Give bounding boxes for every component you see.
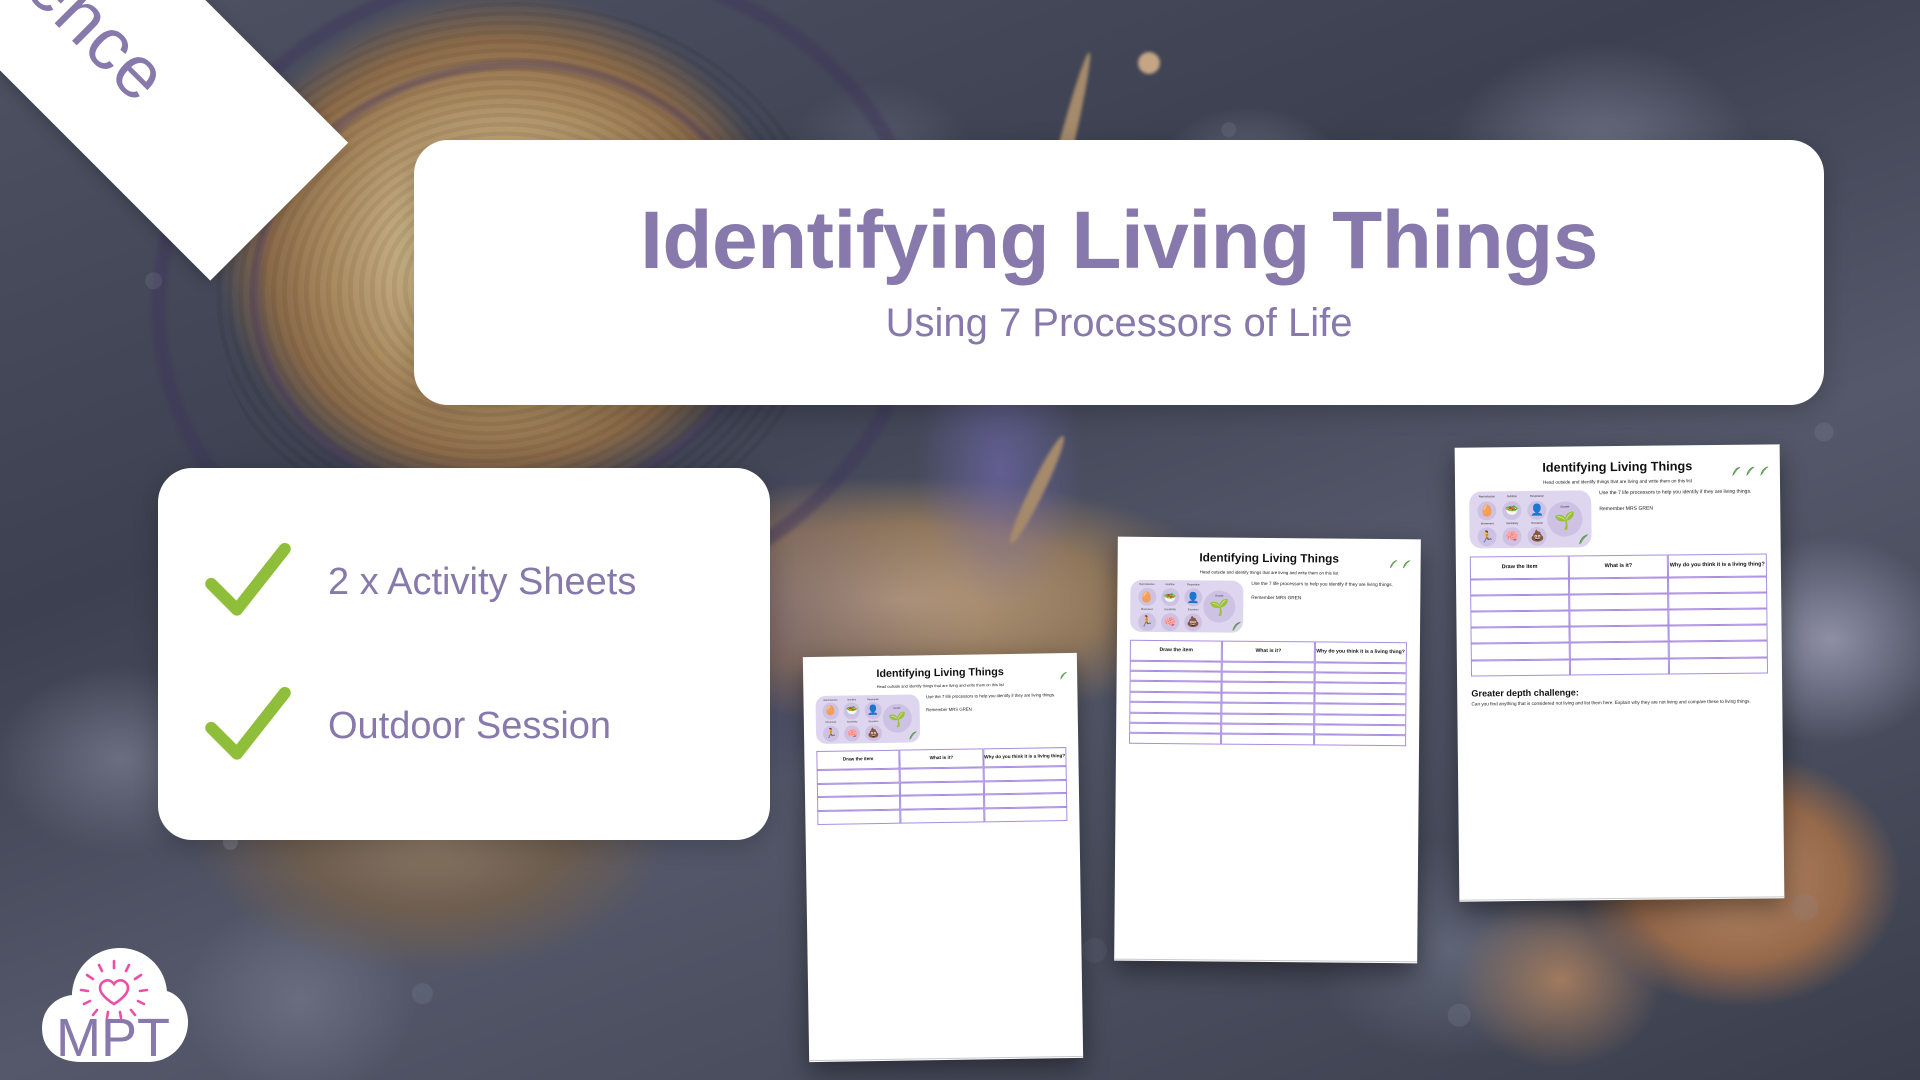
leaf-icon xyxy=(908,731,918,741)
worksheet-preview-right[interactable]: Identifying Living ThingsHead outside an… xyxy=(1455,444,1785,901)
worksheet-intro: Head outside and identify things that ar… xyxy=(803,681,1077,690)
feature-item-outdoor-session: Outdoor Session xyxy=(202,680,726,772)
page-subtitle: Using 7 Processors of Life xyxy=(886,301,1353,346)
feature-label: 2 x Activity Sheets xyxy=(328,561,636,604)
life-process-label: Growth xyxy=(1548,506,1583,509)
check-icon xyxy=(202,680,294,772)
table-cell[interactable] xyxy=(817,796,900,811)
leaf-icon xyxy=(908,731,918,741)
life-process-label: Respiration xyxy=(1530,496,1544,499)
table-cell[interactable] xyxy=(1569,593,1668,610)
worksheet-note: Use the 7 life processors to help you id… xyxy=(1251,580,1411,588)
table-cell[interactable] xyxy=(1570,626,1669,643)
table-header-cell: Why do you think it is a living thing? xyxy=(983,747,1067,767)
check-icon xyxy=(202,536,294,628)
life-process-icon: 🧠 xyxy=(1161,613,1179,631)
table-cell[interactable] xyxy=(983,780,1066,795)
life-process-icon: 🥗 xyxy=(844,703,861,720)
table-header-cell: Why do you think it is a living thing? xyxy=(1668,554,1767,577)
table-cell[interactable] xyxy=(1669,657,1768,674)
table-cell[interactable] xyxy=(1222,713,1314,724)
life-process-label: Reproduction xyxy=(824,699,838,702)
life-process-excretion: Excretion💩 xyxy=(1182,609,1204,631)
table-cell[interactable] xyxy=(817,810,900,825)
table-cell[interactable] xyxy=(1314,724,1406,735)
greater-depth-title: Greater depth challenge: xyxy=(1471,685,1768,698)
worksheet-remember: Remember MRS GREN xyxy=(926,705,1069,712)
table-cell[interactable] xyxy=(1470,594,1569,611)
table-cell[interactable] xyxy=(1222,692,1314,703)
life-process-label: Sensitivity xyxy=(847,722,858,724)
life-process-label: Movement xyxy=(1481,523,1494,526)
cloud-icon: MPT xyxy=(38,940,188,1068)
life-process-respiration: Respiration👤 xyxy=(1525,496,1548,520)
life-process-icon: 💩 xyxy=(1528,527,1547,546)
life-processes-panel: Reproduction🥚Nutrition🥗Respiration👤Movem… xyxy=(1469,491,1591,549)
table-cell[interactable] xyxy=(1668,576,1767,593)
life-process-respiration: Respiration👤 xyxy=(1183,585,1205,607)
table-cell[interactable] xyxy=(1314,735,1406,746)
worksheet-intro: Head outside and identify things that ar… xyxy=(1455,478,1780,486)
life-process-label: Excretion xyxy=(1188,609,1199,612)
life-process-icon: 👤 xyxy=(1527,500,1546,519)
worksheet-note: Use the 7 life processors to help you id… xyxy=(1599,489,1770,498)
life-process-excretion: Excretion💩 xyxy=(1526,523,1549,547)
table-cell[interactable] xyxy=(1129,733,1221,744)
title-card: Identifying Living Things Using 7 Proces… xyxy=(414,140,1824,405)
life-process-reproduction: Reproduction🥚 xyxy=(1475,497,1498,521)
life-process-icon: 💩 xyxy=(1184,613,1202,631)
sprout-icon: 🌱 xyxy=(1209,598,1229,618)
table-cell[interactable] xyxy=(1569,609,1668,626)
greater-depth-text: Can you find anything that is considered… xyxy=(1471,699,1768,709)
features-card: 2 x Activity Sheets Outdoor Session xyxy=(158,468,770,840)
leaf-icon xyxy=(1059,671,1068,680)
life-process-movement: Movement🏃 xyxy=(1476,523,1499,547)
life-process-icon: 🥚 xyxy=(1138,588,1156,606)
table-cell[interactable] xyxy=(1668,608,1767,625)
table-cell[interactable] xyxy=(1314,714,1406,725)
life-process-label: Reproduction xyxy=(1479,497,1495,500)
worksheet-table: Draw the itemWhat is it?Why do you think… xyxy=(1470,554,1768,677)
life-process-reproduction: Reproduction🥚 xyxy=(821,699,841,719)
table-header-cell: Draw the item xyxy=(1130,640,1222,662)
table-cell[interactable] xyxy=(1470,578,1569,595)
life-process-sensitivity: Sensitivity🧠 xyxy=(842,722,862,742)
life-process-label: Growth xyxy=(882,708,911,710)
table-cell[interactable] xyxy=(1669,641,1768,658)
life-process-label: Growth xyxy=(1203,594,1235,597)
life-process-growth: Growth🌱 xyxy=(1548,502,1583,537)
table-header-cell: What is it? xyxy=(1569,555,1668,578)
table-cell[interactable] xyxy=(900,795,983,810)
table-cell[interactable] xyxy=(1471,611,1570,628)
worksheet-note: Use the 7 life processors to help you id… xyxy=(926,692,1069,700)
life-process-label: Sensitivity xyxy=(1164,609,1175,612)
leaf-decoration xyxy=(1731,466,1770,477)
feature-item-activity-sheets: 2 x Activity Sheets xyxy=(202,536,726,628)
life-process-nutrition: Nutrition🥗 xyxy=(842,699,862,719)
worksheet-intro: Head outside and identify things that ar… xyxy=(1118,569,1421,577)
life-process-excretion: Excretion💩 xyxy=(864,721,884,741)
life-process-icon: 💩 xyxy=(865,725,882,742)
life-process-icon: 👤 xyxy=(865,702,882,719)
feature-label: Outdoor Session xyxy=(328,705,611,748)
table-cell[interactable] xyxy=(1222,672,1314,683)
worksheet-preview-left[interactable]: Identifying Living ThingsHead outside an… xyxy=(803,653,1083,1062)
sprout-icon: 🌱 xyxy=(888,711,907,729)
life-process-icon: 🥚 xyxy=(822,703,839,720)
table-header-cell: What is it? xyxy=(900,748,984,768)
worksheet-remember: Remember MRS GREN xyxy=(1251,595,1411,601)
life-processes-panel: Reproduction🥚Nutrition🥗Respiration👤Movem… xyxy=(816,694,920,744)
leaf-icon xyxy=(1388,559,1398,569)
table-cell[interactable] xyxy=(1668,625,1767,642)
table-header-cell: Draw the item xyxy=(816,749,900,769)
life-process-movement: Movement🏃 xyxy=(1136,609,1158,631)
life-process-movement: Movement🏃 xyxy=(821,722,841,742)
table-cell[interactable] xyxy=(984,793,1067,808)
worksheet-title: Identifying Living Things xyxy=(1118,550,1421,567)
leaf-icon xyxy=(1231,620,1242,631)
table-cell[interactable] xyxy=(1129,723,1221,734)
life-process-nutrition: Nutrition🥗 xyxy=(1500,496,1523,520)
table-cell[interactable] xyxy=(900,767,983,782)
table-cell[interactable] xyxy=(900,781,983,796)
table-cell[interactable] xyxy=(1570,642,1669,659)
table-cell[interactable] xyxy=(983,766,1066,781)
worksheet-table: Draw the itemWhat is it?Why do you think… xyxy=(816,747,1067,825)
life-process-sensitivity: Sensitivity🧠 xyxy=(1501,523,1524,547)
sprout-icon: 🌱 xyxy=(1554,510,1576,531)
life-process-label: Nutrition xyxy=(847,699,856,701)
life-process-label: Nutrition xyxy=(1507,496,1517,499)
table-cell[interactable] xyxy=(1221,734,1313,745)
table-cell[interactable] xyxy=(984,807,1067,822)
table-cell[interactable] xyxy=(1668,592,1767,609)
leaf-icon xyxy=(1577,533,1589,545)
life-process-label: Movement xyxy=(825,722,836,724)
leaf-icon xyxy=(1577,533,1589,545)
leaf-decoration xyxy=(1059,671,1068,680)
life-process-label: Respiration xyxy=(1187,585,1200,588)
life-process-label: Excretion xyxy=(1532,523,1543,526)
table-cell[interactable] xyxy=(1222,661,1314,672)
table-header-cell: Why do you think it is a living thing? xyxy=(1314,641,1406,663)
life-process-label: Nutrition xyxy=(1165,584,1175,587)
life-process-icon: 🏃 xyxy=(1138,613,1156,631)
life-process-icon: 🧠 xyxy=(1503,527,1522,546)
worksheet-title: Identifying Living Things xyxy=(803,665,1077,681)
life-processes-panel: Reproduction🥚Nutrition🥗Respiration👤Movem… xyxy=(1130,579,1244,633)
table-cell[interactable] xyxy=(1471,643,1570,660)
mpt-logo-text: MPT xyxy=(56,1008,170,1068)
table-cell[interactable] xyxy=(901,808,984,823)
table-cell[interactable] xyxy=(1471,659,1570,676)
life-process-respiration: Respiration👤 xyxy=(863,699,883,719)
life-process-sensitivity: Sensitivity🧠 xyxy=(1159,609,1181,631)
leaf-icon xyxy=(1401,559,1411,569)
page-title: Identifying Living Things xyxy=(640,199,1598,283)
life-process-icon: 🏃 xyxy=(1478,527,1497,546)
life-process-reproduction: Reproduction🥚 xyxy=(1136,584,1158,606)
leaf-icon xyxy=(1731,466,1742,477)
life-process-nutrition: Nutrition🥗 xyxy=(1159,584,1181,606)
life-process-label: Respiration xyxy=(867,699,879,702)
table-cell[interactable] xyxy=(1222,703,1314,714)
mpt-logo: MPT xyxy=(38,940,188,1068)
life-process-label: Movement xyxy=(1141,609,1153,612)
table-cell[interactable] xyxy=(817,768,900,783)
life-process-icon: 👤 xyxy=(1184,589,1202,607)
leaf-decoration xyxy=(1388,559,1411,569)
worksheet-table: Draw the itemWhat is it?Why do you think… xyxy=(1129,640,1406,746)
worksheet-preview-middle[interactable]: Identifying Living ThingsHead outside an… xyxy=(1114,537,1421,964)
table-cell[interactable] xyxy=(1222,682,1314,693)
life-process-icon: 🥗 xyxy=(1161,588,1179,606)
life-process-icon: 🥗 xyxy=(1502,501,1521,520)
table-cell[interactable] xyxy=(817,782,900,797)
life-process-label: Reproduction xyxy=(1139,584,1154,587)
life-process-growth: Growth🌱 xyxy=(1203,590,1235,622)
table-cell[interactable] xyxy=(1222,724,1314,735)
worksheet-remember: Remember MRS GREN xyxy=(1599,504,1770,512)
table-cell[interactable] xyxy=(1471,627,1570,644)
life-process-label: Sensitivity xyxy=(1506,523,1518,526)
life-process-growth: Growth🌱 xyxy=(882,704,912,734)
life-process-icon: 🧠 xyxy=(844,725,861,742)
life-process-icon: 🏃 xyxy=(823,726,840,743)
life-process-icon: 🥚 xyxy=(1477,501,1496,520)
leaf-icon xyxy=(1759,466,1770,477)
table-cell[interactable] xyxy=(1570,658,1669,675)
leaf-icon xyxy=(1231,620,1242,631)
table-header-cell: Draw the item xyxy=(1470,556,1569,579)
life-process-label: Excretion xyxy=(869,721,879,723)
table-header-cell: What is it? xyxy=(1222,641,1314,663)
table-cell[interactable] xyxy=(1129,712,1221,723)
leaf-icon xyxy=(1745,466,1756,477)
table-cell[interactable] xyxy=(1569,577,1668,594)
